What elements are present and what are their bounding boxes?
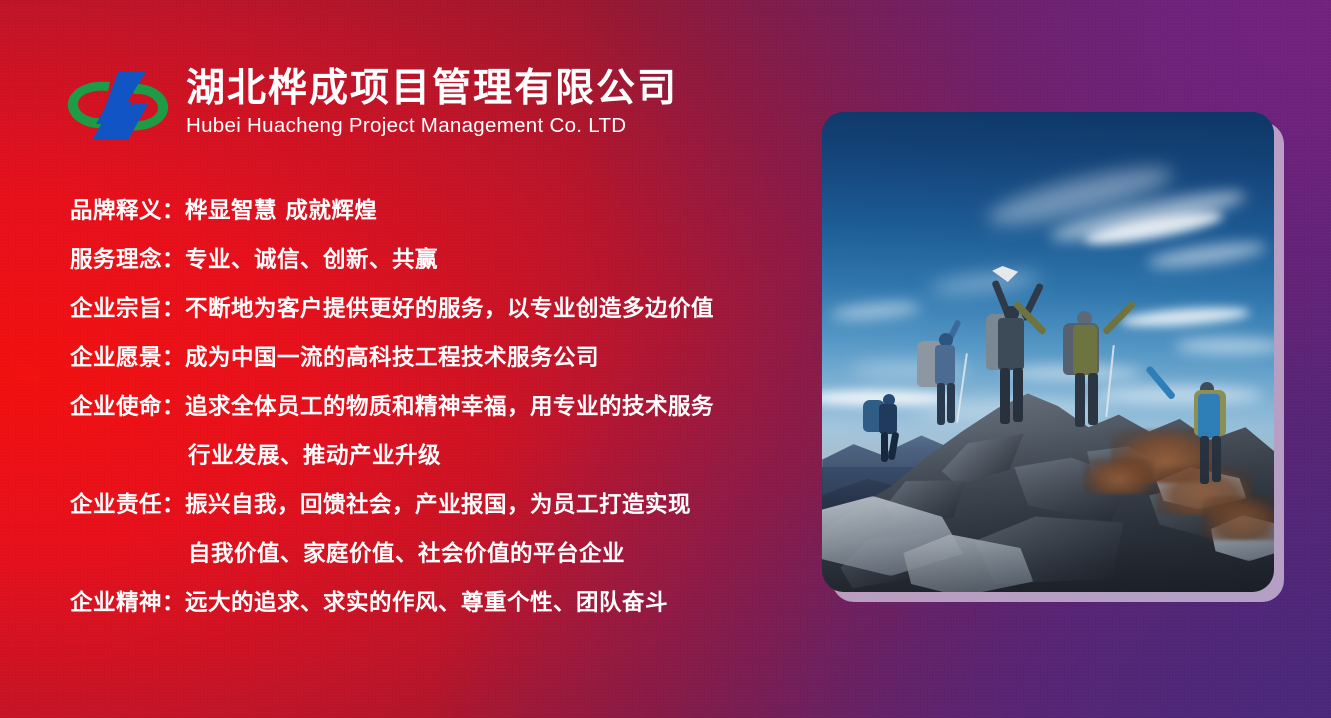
company-name-english: Hubei Huacheng Project Management Co. LT… xyxy=(186,114,678,138)
statement-row-vision: 企业愿景： 成为中国一流的高科技工程技术服务公司 xyxy=(70,335,790,381)
statement-row-mission: 企业使命： 追求全体员工的物质和精神幸福，用专业的技术服务 xyxy=(70,384,790,430)
statement-row-brand: 品牌释义： 桦显智慧 成就辉煌 xyxy=(70,188,790,234)
statement-row-purpose: 企业宗旨： 不断地为客户提供更好的服务，以专业创造多边价值 xyxy=(70,286,790,332)
statement-row-service-philosophy: 服务理念： 专业、诚信、创新、共赢 xyxy=(70,237,790,283)
statement-label: 企业责任： xyxy=(70,482,185,528)
flag-icon xyxy=(992,266,1018,282)
statement-value: 桦显智慧 成就辉煌 xyxy=(185,188,377,234)
company-logo-block: 湖北桦成项目管理有限公司 Hubei Huacheng Project Mana… xyxy=(62,62,678,146)
slide-canvas: 湖北桦成项目管理有限公司 Hubei Huacheng Project Mana… xyxy=(0,0,1331,718)
statement-value: 不断地为客户提供更好的服务，以专业创造多边价值 xyxy=(185,286,714,332)
statement-row-responsibility-continued: 自我价值、家庭价值、社会价值的平台企业 xyxy=(70,531,790,577)
company-logo-mark-icon xyxy=(62,66,174,146)
statement-label: 企业愿景： xyxy=(70,335,185,381)
photo-distant-ridge xyxy=(822,410,1274,496)
company-name-block: 湖北桦成项目管理有限公司 Hubei Huacheng Project Mana… xyxy=(186,62,678,138)
statement-row-mission-continued: 行业发展、推动产业升级 xyxy=(70,433,790,479)
statement-label: 企业使命： xyxy=(70,384,185,430)
photo-inner xyxy=(822,112,1274,592)
photo-sky xyxy=(822,112,1274,467)
statement-value: 行业发展、推动产业升级 xyxy=(188,433,441,479)
corporate-statements-list: 品牌释义： 桦显智慧 成就辉煌 服务理念： 专业、诚信、创新、共赢 企业宗旨： … xyxy=(70,188,790,629)
statement-value: 振兴自我，回馈社会，产业报国，为员工打造实现 xyxy=(185,482,691,528)
photo-rocky-summit xyxy=(822,381,1274,592)
mountain-summit-hikers-photo xyxy=(822,112,1274,592)
statement-label: 品牌释义： xyxy=(70,188,185,234)
statement-label: 服务理念： xyxy=(70,237,185,283)
company-name-chinese: 湖北桦成项目管理有限公司 xyxy=(186,66,678,112)
statement-row-responsibility: 企业责任： 振兴自我，回馈社会，产业报国，为员工打造实现 xyxy=(70,482,790,528)
statement-row-spirit: 企业精神： 远大的追求、求实的作风、尊重个性、团队奋斗 xyxy=(70,580,790,626)
statement-value: 成为中国一流的高科技工程技术服务公司 xyxy=(185,335,599,381)
photo-near-ridge xyxy=(822,448,1274,515)
statement-value: 远大的追求、求实的作风、尊重个性、团队奋斗 xyxy=(185,580,668,626)
statement-label: 企业宗旨： xyxy=(70,286,185,332)
statement-label: 企业精神： xyxy=(70,580,185,626)
statement-value: 追求全体员工的物质和精神幸福，用专业的技术服务 xyxy=(185,384,714,430)
statement-value: 自我价值、家庭价值、社会价值的平台企业 xyxy=(188,531,625,577)
statement-value: 专业、诚信、创新、共赢 xyxy=(185,237,438,283)
